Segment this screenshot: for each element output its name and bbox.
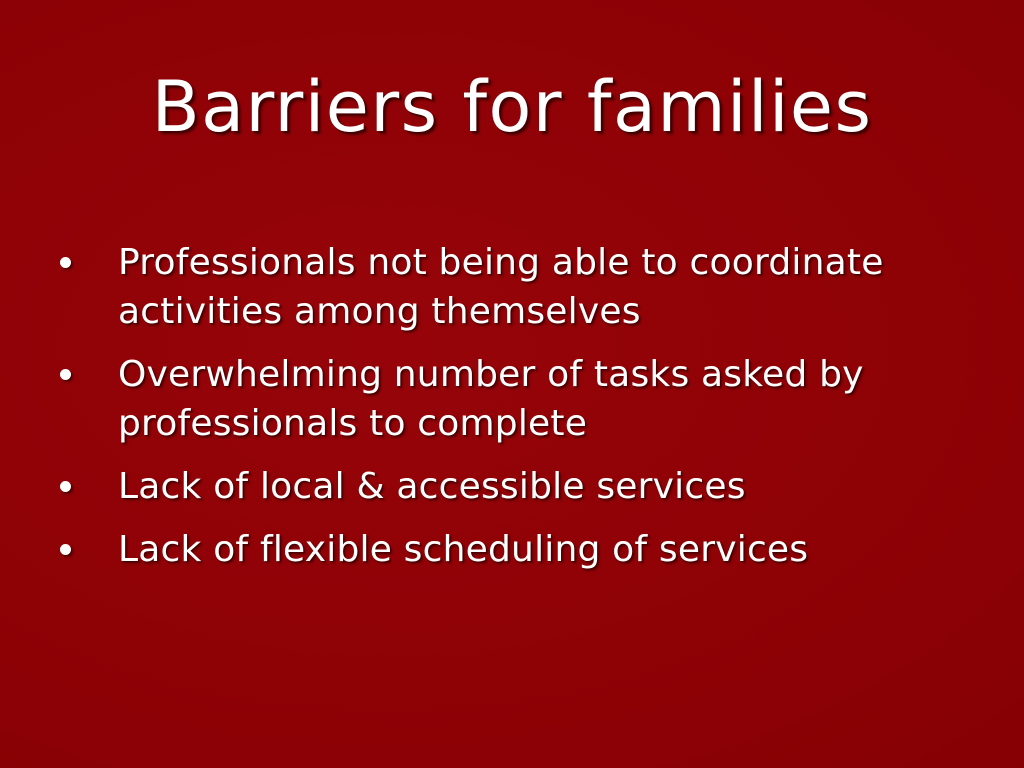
bullet-dot-icon (60, 544, 71, 555)
bullet-list: Professionals not being able to coordina… (52, 238, 952, 574)
list-item-label: Lack of local & accessible services (118, 462, 952, 511)
list-item: Lack of flexible scheduling of services (52, 525, 952, 574)
bullet-dot-icon (60, 257, 71, 268)
list-item: Lack of local & accessible services (52, 462, 952, 511)
list-item: Overwhelming number of tasks asked by pr… (52, 350, 952, 448)
list-item-label: Lack of flexible scheduling of services (118, 525, 952, 574)
list-item: Professionals not being able to coordina… (52, 238, 952, 336)
list-item-label: Professionals not being able to coordina… (118, 238, 952, 336)
bullet-dot-icon (60, 481, 71, 492)
list-item-label: Overwhelming number of tasks asked by pr… (118, 350, 952, 448)
presentation-slide: Barriers for families Professionals not … (0, 0, 1024, 768)
bullet-dot-icon (60, 369, 71, 380)
slide-title: Barriers for families (0, 65, 1024, 149)
